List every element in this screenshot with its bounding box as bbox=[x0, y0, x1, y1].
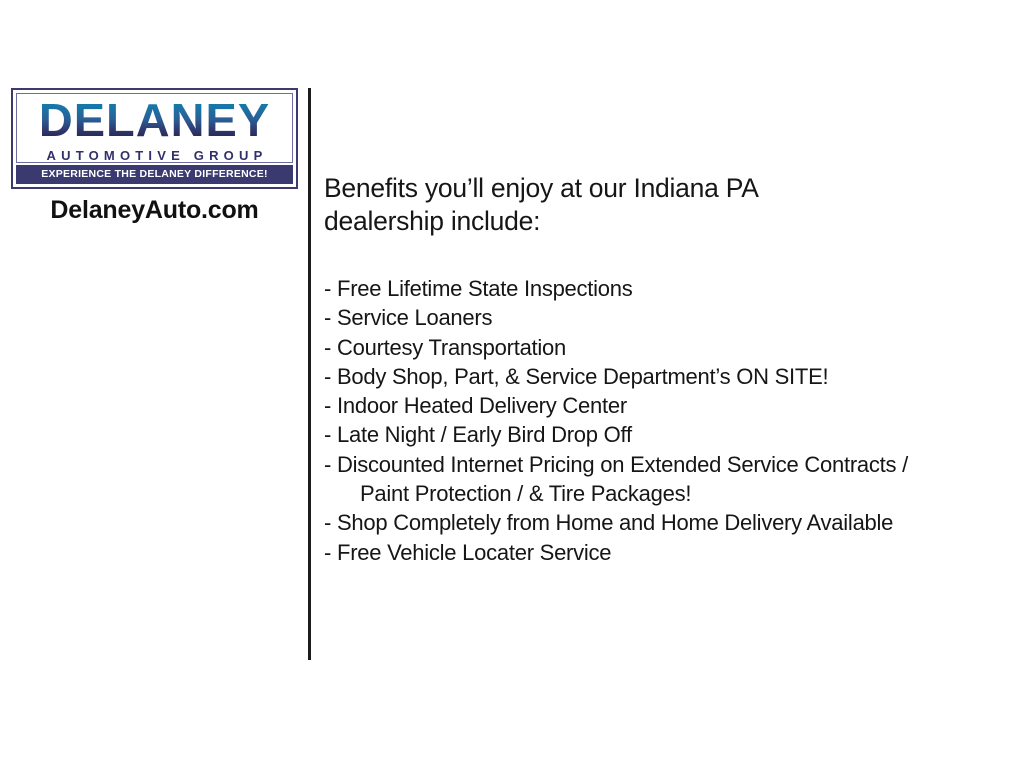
list-item-label: Indoor Heated Delivery Center bbox=[337, 393, 627, 418]
list-item-label: Free Vehicle Locater Service bbox=[337, 540, 611, 565]
list-item: -Discounted Internet Pricing on Extended… bbox=[324, 450, 1010, 509]
delaney-logo: DELANEY AUTOMOTIVE GROUP EXPERIENCE THE … bbox=[11, 88, 298, 189]
list-item-label: Shop Completely from Home and Home Deliv… bbox=[337, 510, 893, 535]
bullet-marker: - bbox=[324, 303, 337, 332]
bullet-marker: - bbox=[324, 274, 337, 303]
content-column: Benefits you’ll enjoy at our Indiana PA … bbox=[324, 172, 1010, 567]
bullet-marker: - bbox=[324, 362, 337, 391]
list-item: -Free Vehicle Locater Service bbox=[324, 538, 1010, 567]
vertical-divider bbox=[308, 88, 311, 660]
bullet-marker: - bbox=[324, 391, 337, 420]
logo-wordmark: DELANEY bbox=[14, 96, 295, 144]
logo-subword: AUTOMOTIVE GROUP bbox=[17, 148, 292, 164]
slide-canvas: DELANEY AUTOMOTIVE GROUP EXPERIENCE THE … bbox=[0, 0, 1024, 768]
list-item-label: Service Loaners bbox=[337, 305, 492, 330]
list-item-label: Discounted Internet Pricing on Extended … bbox=[337, 452, 908, 477]
list-item-label: Late Night / Early Bird Drop Off bbox=[337, 422, 632, 447]
list-item: -Body Shop, Part, & Service Department’s… bbox=[324, 362, 1010, 391]
bullet-marker: - bbox=[324, 333, 337, 362]
list-item-continuation: Paint Protection / & Tire Packages! bbox=[324, 479, 1010, 508]
website-url: DelaneyAuto.com bbox=[11, 195, 298, 225]
list-item: -Late Night / Early Bird Drop Off bbox=[324, 420, 1010, 449]
bullet-marker: - bbox=[324, 450, 337, 479]
bullet-marker: - bbox=[324, 538, 337, 567]
benefits-list: -Free Lifetime State Inspections -Servic… bbox=[324, 274, 1010, 567]
bullet-marker: - bbox=[324, 420, 337, 449]
list-item: -Free Lifetime State Inspections bbox=[324, 274, 1010, 303]
brand-block: DELANEY AUTOMOTIVE GROUP EXPERIENCE THE … bbox=[11, 88, 298, 189]
list-item-label: Body Shop, Part, & Service Department’s … bbox=[337, 364, 828, 389]
list-item: -Service Loaners bbox=[324, 303, 1010, 332]
list-item: -Indoor Heated Delivery Center bbox=[324, 391, 1010, 420]
list-item-label: Courtesy Transportation bbox=[337, 335, 566, 360]
bullet-marker: - bbox=[324, 508, 337, 537]
logo-tagline-bar: EXPERIENCE THE DELANEY DIFFERENCE! bbox=[16, 165, 293, 184]
logo-inner-frame: DELANEY AUTOMOTIVE GROUP bbox=[16, 93, 293, 163]
list-item: -Courtesy Transportation bbox=[324, 333, 1010, 362]
page-title: Benefits you’ll enjoy at our Indiana PA … bbox=[324, 172, 854, 238]
list-item-label: Free Lifetime State Inspections bbox=[337, 276, 633, 301]
list-item: -Shop Completely from Home and Home Deli… bbox=[324, 508, 1010, 537]
